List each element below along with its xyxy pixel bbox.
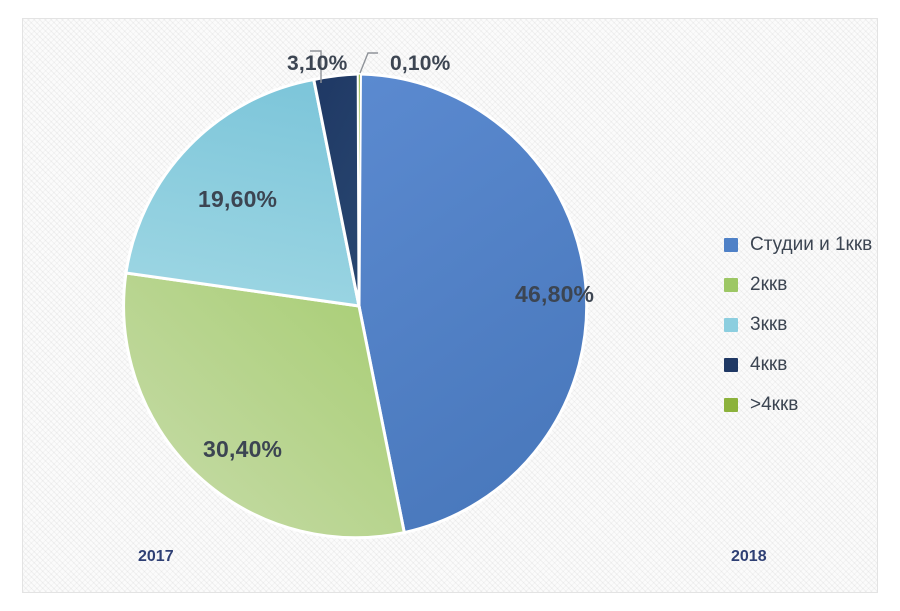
year-label-right: 2018	[731, 548, 767, 566]
slice-value-label-studios-1kkv: 46,80%	[515, 281, 594, 308]
legend-item-label: 3ккв	[750, 315, 787, 334]
legend-swatch-icon	[724, 238, 738, 252]
slice-value-label-4kkv: 3,10%	[287, 52, 348, 76]
plot-area: 46,80% 19,60% 30,40% 3,10% 0,10% 2017 20…	[22, 18, 878, 593]
legend-item-over-4kkv[interactable]: >4ккв	[724, 395, 872, 414]
legend-item-label: 4ккв	[750, 355, 787, 374]
year-label-left: 2017	[138, 548, 174, 566]
leader-line-0-10	[360, 53, 378, 73]
legend-item-4kkv[interactable]: 4ккв	[724, 355, 872, 374]
legend-item-label: Студии и 1ккв	[750, 235, 872, 254]
slice-value-label-2kkv: 30,40%	[203, 436, 282, 463]
legend-item-label: 2ккв	[750, 275, 787, 294]
legend-item-label: >4ккв	[750, 395, 798, 414]
legend-swatch-icon	[724, 398, 738, 412]
legend-swatch-icon	[724, 278, 738, 292]
legend-item-3kkv[interactable]: 3ккв	[724, 315, 872, 334]
legend-item-2kkv[interactable]: 2ккв	[724, 275, 872, 294]
pie-chart-figure: 46,80% 19,60% 30,40% 3,10% 0,10% 2017 20…	[0, 0, 900, 611]
slice-value-label-over-4kkv: 0,10%	[390, 52, 451, 76]
legend-swatch-icon	[724, 318, 738, 332]
slice-value-label-3kkv: 19,60%	[198, 186, 277, 213]
legend-item-studios-1kkv[interactable]: Студии и 1ккв	[724, 235, 872, 254]
legend-swatch-icon	[724, 358, 738, 372]
legend: Студии и 1ккв 2ккв 3ккв 4ккв >4ккв	[724, 235, 872, 414]
